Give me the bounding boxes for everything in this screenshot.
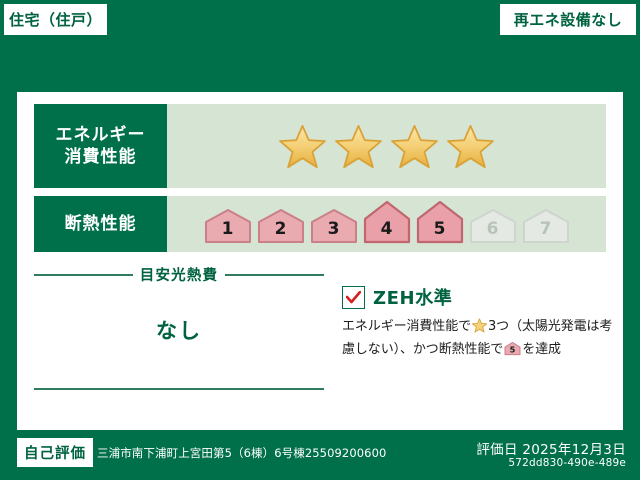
star-icon xyxy=(391,124,438,169)
zeh-standard-section: ZEH水準 エネルギー消費性能で 3つ（太陽光発電は考慮しない）、かつ断熱性能で… xyxy=(342,284,614,363)
grade-house-6: 6 xyxy=(468,207,518,245)
utility-cost-header: 目安光熱費 xyxy=(34,264,324,285)
energy-performance-value-cell xyxy=(167,104,606,188)
star-rating xyxy=(279,124,494,169)
utility-cost-bottom-rule xyxy=(34,388,324,390)
zeh-checkbox xyxy=(342,286,365,309)
grade-number: 3 xyxy=(309,219,359,239)
star-icon xyxy=(447,124,494,169)
grade-number: 2 xyxy=(256,219,306,239)
property-address: 三浦市南下浦町上宮田第5（6棟）6号棟25509200600 xyxy=(97,445,386,461)
star-icon xyxy=(279,124,326,169)
svg-text:5: 5 xyxy=(510,345,516,355)
insulation-performance-row: 断熱性能 1 2 xyxy=(34,196,606,252)
check-icon xyxy=(346,291,361,304)
zeh-description: エネルギー消費性能で 3つ（太陽光発電は考慮しない）、かつ断熱性能で 5 を達成 xyxy=(342,317,614,363)
zeh-desc-part3: を達成 xyxy=(522,342,561,357)
house-grade-icon: 5 xyxy=(504,341,521,363)
utility-cost-value: なし xyxy=(34,315,324,345)
insulation-label-line1: 断熱性能 xyxy=(65,213,137,235)
grade-house-4: 4 xyxy=(362,199,412,245)
building-type-tag: 住宅（住戸） xyxy=(4,4,107,35)
self-evaluation-badge: 自己評価 xyxy=(17,438,93,467)
grade-house-7: 7 xyxy=(521,207,571,245)
zeh-title: ZEH水準 xyxy=(373,284,452,310)
label-body: エネルギー 消費性能 xyxy=(17,92,623,430)
energy-performance-label-cell: エネルギー 消費性能 xyxy=(34,104,167,188)
evaluation-id: 572dd830-490e-489e xyxy=(508,457,626,469)
label-footer: 自己評価 三浦市南下浦町上宮田第5（6棟）6号棟25509200600 評価日 … xyxy=(0,430,640,480)
energy-label-line1: エネルギー xyxy=(56,124,146,146)
grade-number: 6 xyxy=(468,219,518,239)
insulation-grade-scale: 1 2 3 xyxy=(203,199,571,249)
energy-label-line2: 消費性能 xyxy=(65,146,137,168)
renewable-energy-tag: 再エネ設備なし xyxy=(500,4,636,35)
star-icon xyxy=(472,318,487,340)
grade-number: 4 xyxy=(362,219,412,239)
grade-house-3: 3 xyxy=(309,207,359,245)
star-icon xyxy=(335,124,382,169)
insulation-performance-value-cell: 1 2 3 xyxy=(167,196,606,252)
grade-house-5: 5 xyxy=(415,199,465,245)
grade-number: 5 xyxy=(415,219,465,239)
rule-right xyxy=(225,274,324,276)
zeh-desc-part1: エネルギー消費性能で xyxy=(342,319,471,334)
evaluation-date: 評価日 2025年12月3日 xyxy=(476,438,626,458)
utility-cost-section: 目安光熱費 なし xyxy=(34,264,324,345)
grade-number: 1 xyxy=(203,219,253,239)
energy-performance-label: 住宅（住戸） 再エネ設備なし 建築物省エネ法に基づく 省エネ性能ラベル エネルギ… xyxy=(0,0,640,480)
grade-house-1: 1 xyxy=(203,207,253,245)
utility-cost-title: 目安光熱費 xyxy=(140,264,219,285)
rule-left xyxy=(34,274,133,276)
grade-number: 7 xyxy=(521,219,571,239)
zeh-header: ZEH水準 xyxy=(342,284,614,310)
grade-house-2: 2 xyxy=(256,207,306,245)
insulation-performance-label-cell: 断熱性能 xyxy=(34,196,167,252)
energy-performance-row: エネルギー 消費性能 xyxy=(34,104,606,188)
